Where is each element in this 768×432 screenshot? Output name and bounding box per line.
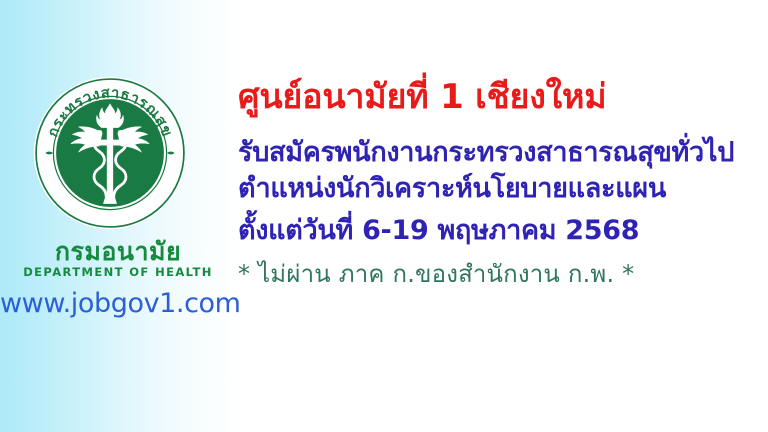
announcement-line-position-type: รับสมัครพนักงานกระทรวงสาธารณสุขทั่วไป xyxy=(238,136,734,170)
announcement-line-position-name: ตำแหน่งนักวิเคราะห์นโยบายและแผน xyxy=(238,172,666,206)
announcement-title: ศูนย์อนามัยที่ 1 เชียงใหม่ xyxy=(238,76,606,118)
announcement-note: * ไม่ผ่าน ภาค ก.ของสำนักงาน ก.พ. * xyxy=(238,258,634,290)
department-name-thai: กรมอนามัย xyxy=(0,238,236,266)
announcement-text-panel: ศูนย์อนามัยที่ 1 เชียงใหม่ รับสมัครพนักง… xyxy=(236,0,768,432)
announcement-banner: กระทรวงสาธารณสุข MINISTRY OF PUBLIC HEAL… xyxy=(0,0,768,432)
logo-panel: กระทรวงสาธารณสุข MINISTRY OF PUBLIC HEAL… xyxy=(0,0,236,432)
ministry-of-public-health-seal-icon: กระทรวงสาธารณสุข MINISTRY OF PUBLIC HEAL… xyxy=(33,76,187,230)
site-url[interactable]: www.jobgov1.com xyxy=(0,288,236,320)
announcement-line-dates: ตั้งแต่วันที่ 6-19 พฤษภาคม 2568 xyxy=(238,214,639,248)
department-name-english: DEPARTMENT OF HEALTH xyxy=(0,265,236,279)
